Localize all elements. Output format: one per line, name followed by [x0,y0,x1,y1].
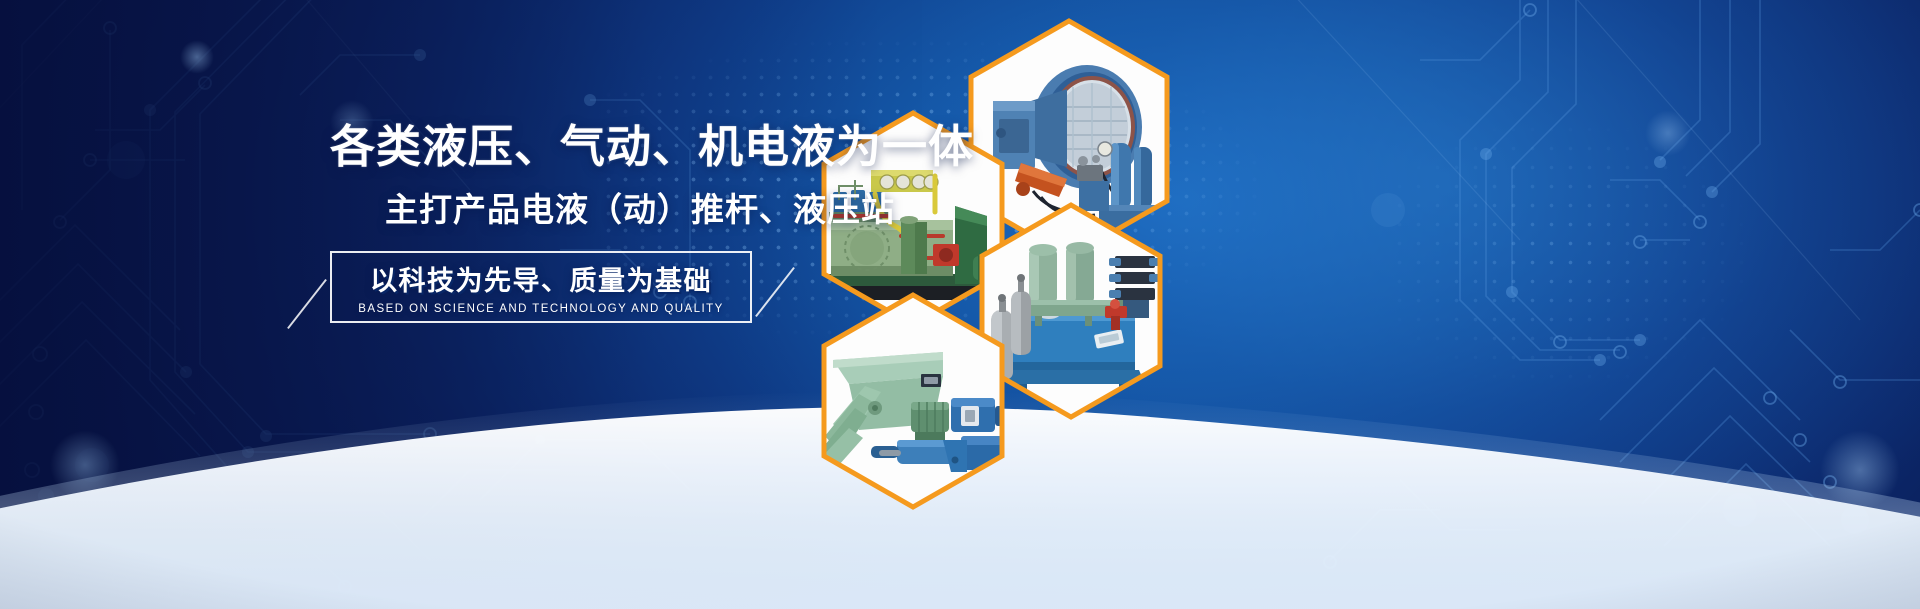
slogan-english: BASED ON SCIENCE AND TECHNOLOGY AND QUAL… [358,303,723,315]
slogan-box: 以科技为先导、质量为基础 BASED ON SCIENCE AND TECHNO… [330,251,752,323]
hexagon-image-cluster [960,0,1460,609]
banner-headline: 各类液压、气动、机电液为一体 [330,120,950,173]
slogan-group: 以科技为先导、质量为基础 BASED ON SCIENCE AND TECHNO… [330,251,752,323]
hero-banner: 各类液压、气动、机电液为一体 主打产品电液（动）推杆、液压站 以科技为先导、质量… [0,0,1920,609]
decorative-slash-right [755,267,795,317]
banner-text-block: 各类液压、气动、机电液为一体 主打产品电液（动）推杆、液压站 以科技为先导、质量… [330,120,950,323]
banner-subline: 主打产品电液（动）推杆、液压站 [330,183,950,231]
slogan-chinese: 以科技为先导、质量为基础 [370,259,712,298]
hex-push-rod[interactable] [815,290,1011,512]
